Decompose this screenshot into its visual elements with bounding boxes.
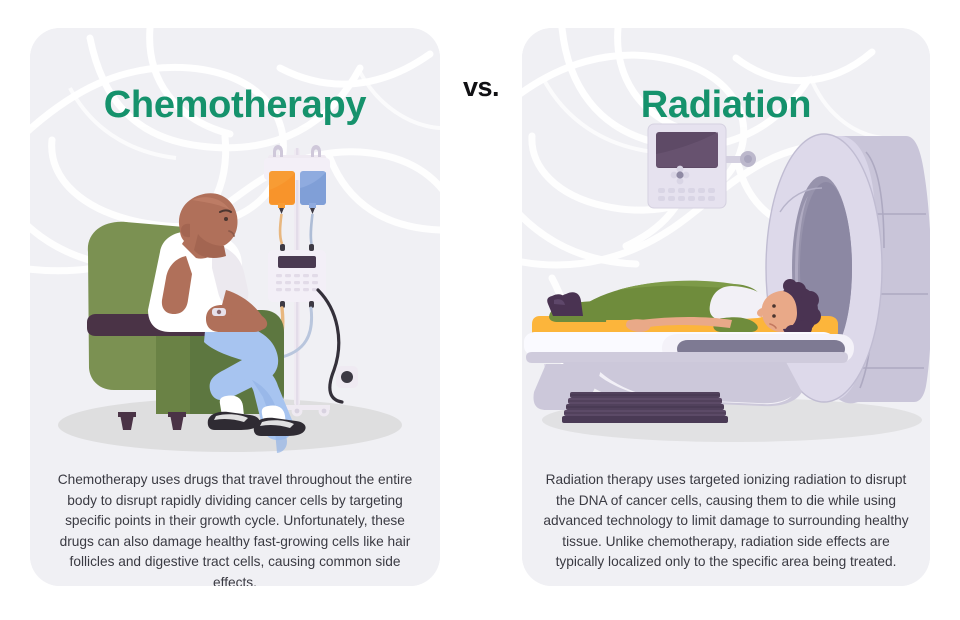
comparison-separator-label: vs. xyxy=(440,72,522,103)
panel-radiation: Radiation xyxy=(522,28,930,586)
caption-radiation: Radiation therapy uses targeted ionizing… xyxy=(542,470,910,573)
stacked-step-platform xyxy=(562,392,728,423)
orange-iv-fluid-bag xyxy=(269,171,295,214)
control-panel-with-screen xyxy=(648,124,756,208)
power-cord-to-wall-outlet xyxy=(318,290,358,402)
caption-chemotherapy: Chemotherapy uses drugs that travel thro… xyxy=(50,470,420,586)
patient-shoes xyxy=(547,292,583,316)
patient-lying-on-table xyxy=(532,279,838,340)
panel-chemotherapy: Chemotherapy xyxy=(30,28,440,586)
panel-title-radiation: Radiation xyxy=(522,84,930,127)
infusion-pump-with-display xyxy=(268,244,326,308)
blue-iv-fluid-bag xyxy=(300,171,326,214)
infographic-canvas: Chemotherapy xyxy=(0,0,960,620)
panel-title-chemotherapy: Chemotherapy xyxy=(30,84,440,127)
